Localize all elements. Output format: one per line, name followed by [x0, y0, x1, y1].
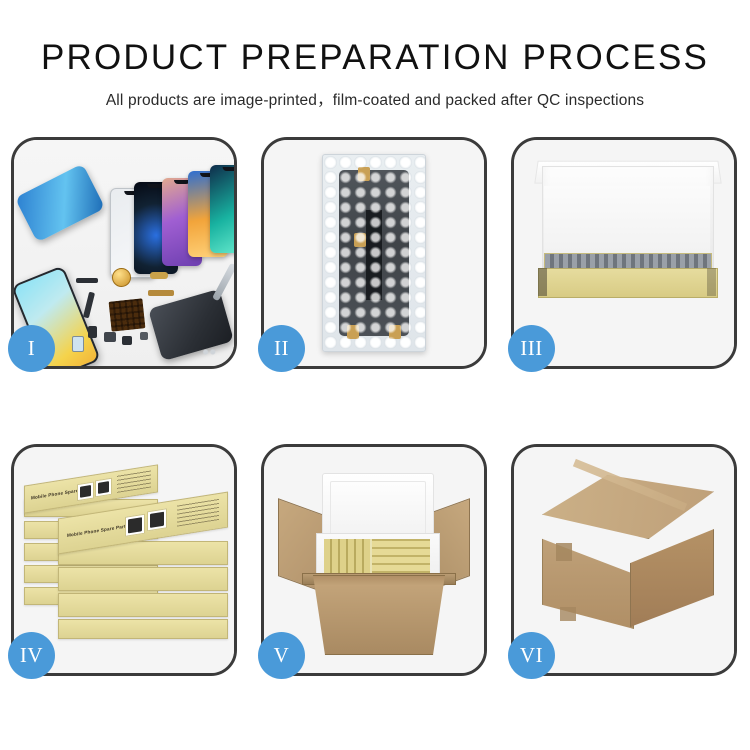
box-stack: Mobile Phone Spare Parts Mobile Phone Sp… [24, 469, 234, 667]
box-spec-lines [177, 498, 219, 527]
carton-tape-mark [556, 543, 572, 561]
page-subtitle: All products are image-printed，film-coat… [0, 88, 750, 110]
box-edge-left [538, 268, 547, 296]
step-badge-2: II [258, 325, 305, 372]
battery-cell-icon [72, 336, 84, 352]
gold-tab-icon [354, 233, 366, 247]
box-window [77, 482, 94, 502]
camera-module-icon [104, 332, 116, 342]
gold-connector-icon [148, 290, 174, 296]
step-panel-5[interactable]: V [261, 444, 487, 676]
box-spec-lines [117, 469, 151, 492]
step-badge-3: III [508, 325, 555, 372]
step-panel-6[interactable]: VI [511, 444, 737, 676]
step-badge-4: IV [8, 632, 55, 679]
gold-tab-icon [358, 167, 370, 181]
page-title: PRODUCT PREPARATION PROCESS [0, 40, 750, 75]
vibrator-motor-icon [88, 326, 97, 338]
part-dark-strip [366, 210, 382, 300]
small-part-icon [122, 336, 132, 345]
speaker-component-icon [112, 268, 131, 287]
gold-contact-icon [150, 272, 168, 279]
stacked-box [58, 567, 228, 591]
carton-tape-mark [560, 607, 576, 621]
step-badge-6: VI [508, 632, 555, 679]
step-panel-3[interactable]: III [511, 137, 737, 369]
box-window [147, 508, 167, 531]
stacked-box [58, 619, 228, 639]
antenna-strip-icon [76, 278, 98, 283]
step-panel-1[interactable]: I [11, 137, 237, 369]
box-window [95, 478, 112, 498]
step-badge-1: I [8, 325, 55, 372]
screws-icon [202, 348, 220, 356]
gold-tab-icon [389, 325, 401, 339]
step-panel-2[interactable]: II [261, 137, 487, 369]
yellow-box-front-icon [538, 268, 718, 298]
step-panel-4[interactable]: Mobile Phone Spare Parts Mobile Phone Sp… [11, 444, 237, 676]
box-window [125, 514, 145, 537]
box-edge-right [707, 268, 716, 296]
bubble-wrap-bag-icon [322, 154, 426, 352]
phone-front-teal-icon [210, 165, 234, 253]
screw-tray-icon [109, 298, 146, 331]
box-label-text: Mobile Phone Spare Parts [67, 523, 128, 538]
stacked-box [58, 593, 228, 617]
carton-body-icon [304, 575, 454, 655]
process-steps-grid: I II [11, 137, 739, 676]
gold-tab-icon [347, 325, 359, 339]
page-header: PRODUCT PREPARATION PROCESS All products… [0, 0, 750, 110]
sim-tray-icon [140, 332, 148, 340]
carton-front-face-icon [542, 519, 634, 629]
step-badge-5: V [258, 632, 305, 679]
